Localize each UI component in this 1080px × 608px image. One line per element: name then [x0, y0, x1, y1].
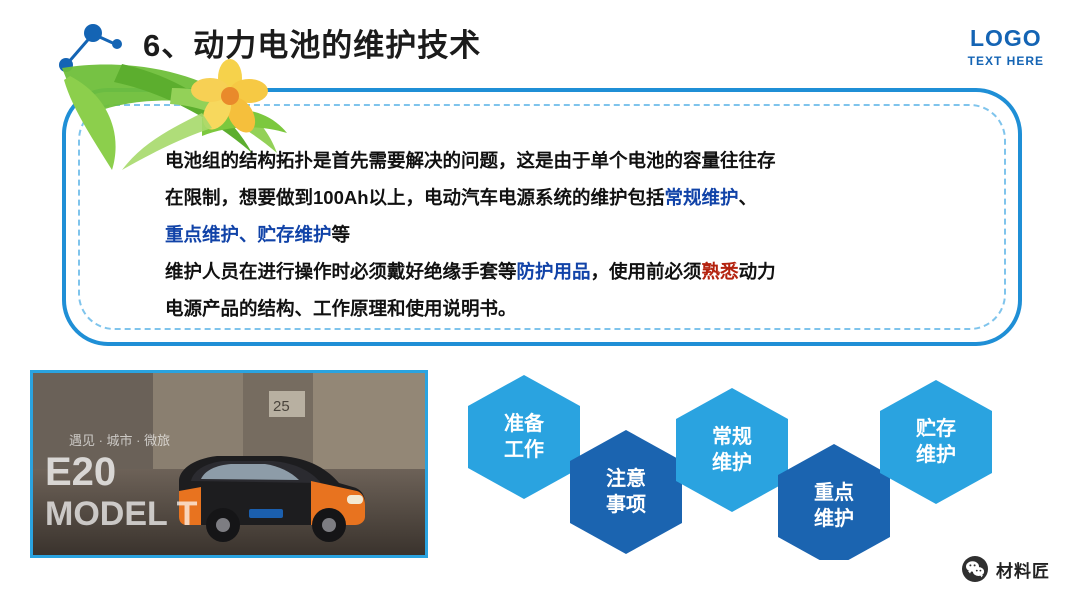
wechat-name: 材料匠: [996, 557, 1050, 582]
svg-text:MODEL T: MODEL T: [45, 495, 198, 533]
panel-line-4-mid: ，使用前必须: [591, 261, 702, 282]
panel-line-5-text: 电源产品的结构、工作原理和使用说明书。: [165, 298, 517, 319]
panel-line-3-tail: 等: [332, 224, 351, 245]
photo-image: 25 E20 MODEL T 遇见 · 城市 · 微旅: [33, 373, 425, 555]
flow-step-2: 注意 事项: [570, 430, 682, 554]
flow-step-3-label: 常规 维护: [712, 424, 752, 476]
slide-header: 6、动力电池的维护技术 LOGO TEXT HERE: [0, 0, 1080, 88]
flow-step-1-line1: 准备: [504, 411, 544, 437]
page-title: 6、动力电池的维护技术: [143, 20, 481, 65]
panel-line-2-highlight: 常规维护: [665, 187, 739, 208]
panel-line-1: 电池组的结构拓扑是首先需要解决的问题，这是由于单个电池的容量往往存: [165, 142, 955, 179]
slide-canvas: 6、动力电池的维护技术 LOGO TEXT HERE 电池组的结构拓扑是首先需要…: [0, 0, 1080, 608]
panel-line-1-text: 电池组的结构拓扑是首先需要解决的问题，这是由于单个电池的容量往往存: [165, 150, 776, 171]
flow-step-3-line2: 维护: [712, 450, 752, 476]
flow-step-4-line1: 重点: [814, 480, 854, 506]
logo: LOGO TEXT HERE: [968, 26, 1044, 68]
panel-body-text: 电池组的结构拓扑是首先需要解决的问题，这是由于单个电池的容量往往存 在限制，想要…: [165, 142, 955, 327]
svg-text:25: 25: [273, 398, 290, 415]
logo-main-text: LOGO: [968, 26, 1044, 51]
flow-step-4-label: 重点 维护: [814, 480, 854, 532]
wechat-icon: [962, 556, 988, 582]
panel-line-4-highlight: 防护用品: [517, 261, 591, 282]
panel-line-4: 维护人员在进行操作时必须戴好绝缘手套等防护用品，使用前必须熟悉动力: [165, 253, 955, 290]
flow-step-2-line1: 注意: [606, 466, 646, 492]
flow-step-5-label: 贮存 维护: [916, 416, 956, 468]
panel-line-2: 在限制，想要做到100Ah以上，电动汽车电源系统的维护包括常规维护、: [165, 179, 955, 216]
flow-step-1-label: 准备 工作: [504, 411, 544, 463]
panel-line-4-tail: 动力: [739, 261, 776, 282]
node-connector-icon: [55, 20, 125, 78]
flow-step-3-line1: 常规: [712, 424, 752, 450]
svg-text:E20: E20: [45, 450, 116, 494]
panel-line-3-highlight: 重点维护、贮存维护: [165, 224, 332, 245]
panel-line-2-text: 在限制，想要做到100Ah以上，电动汽车电源系统的维护包括: [165, 187, 665, 208]
flow-step-5-line1: 贮存: [916, 416, 956, 442]
logo-sub-text: TEXT HERE: [968, 54, 1044, 68]
panel-line-4-text: 维护人员在进行操作时必须戴好绝缘手套等: [165, 261, 517, 282]
slide-footer: [0, 560, 1080, 608]
flow-step-2-label: 注意 事项: [606, 466, 646, 518]
product-photo: 25 E20 MODEL T 遇见 · 城市 · 微旅: [30, 370, 428, 558]
panel-line-5: 电源产品的结构、工作原理和使用说明书。: [165, 290, 955, 327]
flow-step-1-line2: 工作: [504, 437, 544, 463]
flow-step-1: 准备 工作: [468, 375, 580, 499]
flow-step-5-line2: 维护: [916, 442, 956, 468]
panel-line-4-highlight-red: 熟悉: [702, 261, 739, 282]
flow-step-4: 重点 维护: [778, 444, 890, 568]
panel-line-2-tail: 、: [739, 187, 758, 208]
panel-line-3: 重点维护、贮存维护等: [165, 216, 955, 253]
flow-step-2-line2: 事项: [606, 492, 646, 518]
flow-step-3: 常规 维护: [676, 388, 788, 512]
flow-step-5: 贮存 维护: [880, 380, 992, 504]
wechat-brand: 材料匠: [962, 556, 1050, 582]
flow-step-4-line2: 维护: [814, 506, 854, 532]
svg-text:遇见 · 城市 · 微旅: 遇见 · 城市 · 微旅: [69, 433, 170, 448]
